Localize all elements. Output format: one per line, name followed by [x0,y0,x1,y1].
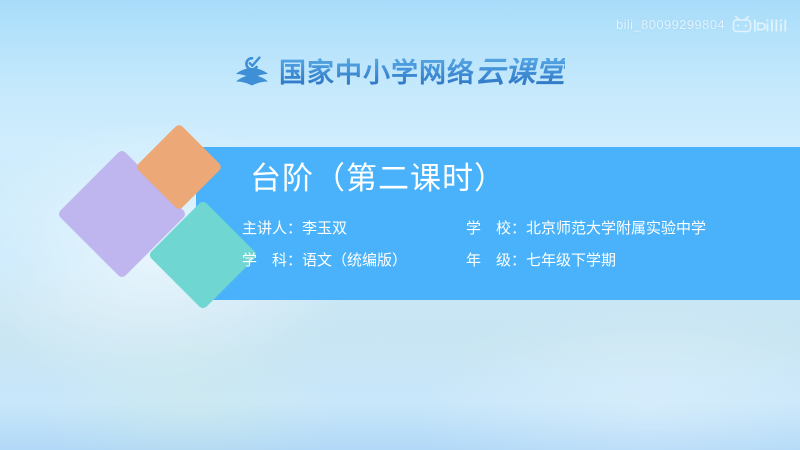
watermark-user-id: bili_80099299804 [616,17,725,32]
bilibili-watermark: bili_80099299804 [616,14,788,34]
lesson-title: 台阶（第二课时） [250,161,506,198]
lesson-subject-label: 学 科： [242,251,302,269]
video-frame: bili_80099299804 [0,0,800,450]
lesson-presenter: 主讲人：李玉双 [242,219,466,237]
platform-logo-text-main: 国家中小学网络 [279,58,475,89]
lesson-subject-value: 语文（统编版） [302,251,407,269]
background-haze-right [420,300,800,450]
lesson-subject: 学 科：语文（统编版） [242,251,466,269]
platform-logo-text: 国家中小学网络云课堂 [279,58,565,88]
background-haze-bottom [40,330,340,450]
platform-logo-text-accent: 云课堂 [475,55,565,90]
lesson-grade: 年 级：七年级下学期 [466,251,800,269]
lesson-meta-row: 主讲人：李玉双 学 校：北京师范大学附属实验中学 [242,219,800,237]
bilibili-tv-icon [732,14,788,34]
lesson-grade-value: 七年级下学期 [526,251,616,269]
lesson-presenter-value: 李玉双 [302,219,347,237]
lesson-meta-row: 学 科：语文（统编版） 年 级：七年级下学期 [242,251,800,269]
lesson-grade-label: 年 级： [466,251,526,269]
open-book-check-icon [234,56,270,90]
lesson-info-content: 台阶（第二课时） 主讲人：李玉双 学 校：北京师范大学附属实验中学 学 科：语文… [196,147,800,300]
lesson-school-label: 学 校： [466,219,526,237]
lesson-school-value: 北京师范大学附属实验中学 [526,219,706,237]
platform-logo: 国家中小学网络云课堂 [234,56,565,90]
lesson-presenter-label: 主讲人： [242,219,302,237]
lesson-school: 学 校：北京师范大学附属实验中学 [466,219,800,237]
background-bottom-glow [0,330,800,450]
